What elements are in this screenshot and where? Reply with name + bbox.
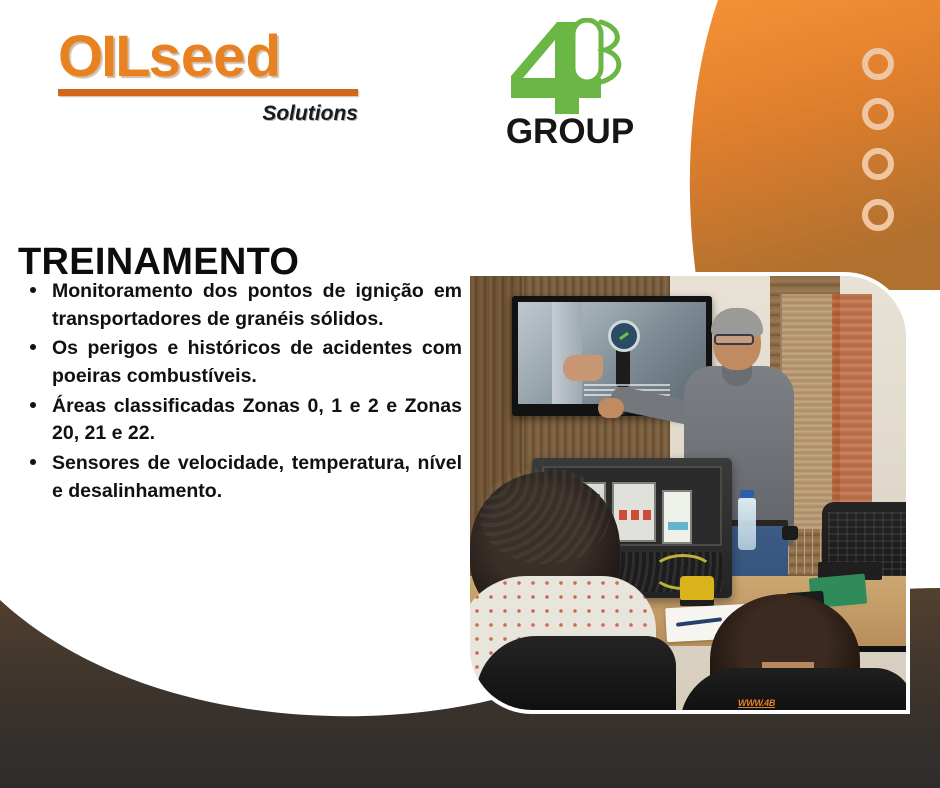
oilseed-word-oil: OIL bbox=[58, 24, 149, 89]
photo-attendee-2-shirt-print: WWW.4B bbox=[738, 698, 775, 708]
list-item: Áreas classificadas Zonas 0, 1 e 2 e Zon… bbox=[22, 393, 462, 448]
list-item: Monitoramento dos pontos de ignição em t… bbox=[22, 278, 462, 333]
orange-decorative-blob bbox=[640, 0, 940, 290]
photo-office-chair-left bbox=[476, 636, 676, 710]
photo-tv-video-door bbox=[552, 302, 582, 404]
oilseed-tagline: Solutions bbox=[58, 102, 358, 126]
fourb-group-logo: GROUP bbox=[495, 18, 645, 149]
list-item-label: Monitoramento dos pontos de ignição em t… bbox=[52, 278, 462, 333]
training-photo-scene: WWW.4B bbox=[470, 276, 906, 710]
photo-tv-video-gauge bbox=[608, 320, 640, 352]
bullet-dot-icon bbox=[30, 344, 36, 350]
decorative-ring-3 bbox=[862, 148, 894, 180]
photo-presenter-glasses bbox=[714, 334, 754, 345]
photo-presenter-watch bbox=[782, 526, 798, 540]
list-item: Sensores de velocidade, temperatura, nív… bbox=[22, 450, 462, 505]
fourb-mark-icon bbox=[495, 18, 645, 116]
oilseed-wordmark: OILseed bbox=[58, 28, 368, 86]
photo-water-bottle bbox=[738, 498, 756, 550]
list-item: Os perigos e históricos de acidentes com… bbox=[22, 335, 462, 390]
photo-attendee-1-hair-texture bbox=[480, 468, 610, 564]
bullet-dot-icon bbox=[30, 459, 36, 465]
list-item-label: Os perigos e históricos de acidentes com… bbox=[52, 335, 462, 390]
photo-yellow-sensor bbox=[680, 576, 714, 606]
fourb-group-text: GROUP bbox=[495, 114, 645, 149]
bullet-dot-icon bbox=[30, 287, 36, 293]
list-item-label: Áreas classificadas Zonas 0, 1 e 2 e Zon… bbox=[52, 393, 462, 448]
list-item-label: Sensores de velocidade, temperatura, nív… bbox=[52, 450, 462, 505]
photo-sensor-device-3 bbox=[662, 490, 692, 544]
photo-window-blind-orange bbox=[832, 294, 872, 529]
bullet-dot-icon bbox=[30, 402, 36, 408]
slide-canvas: OILseed Solutions GROUP TREINAMENTO Moni… bbox=[0, 0, 940, 788]
training-topics-list: Monitoramento dos pontos de ignição em t… bbox=[22, 278, 462, 508]
photo-presenter-hand bbox=[598, 398, 624, 418]
photo-attendee-2-shirt bbox=[680, 668, 906, 710]
oilseed-underline-rule bbox=[58, 89, 358, 96]
decorative-ring-1 bbox=[862, 48, 894, 80]
training-photo: WWW.4B bbox=[466, 272, 910, 714]
decorative-ring-4 bbox=[862, 199, 894, 231]
photo-tv-screen bbox=[518, 302, 706, 404]
oilseed-logo: OILseed Solutions bbox=[58, 28, 368, 126]
oilseed-word-seed: seed bbox=[149, 24, 281, 89]
photo-tv-video-hand bbox=[563, 355, 603, 381]
decorative-ring-2 bbox=[862, 98, 894, 130]
